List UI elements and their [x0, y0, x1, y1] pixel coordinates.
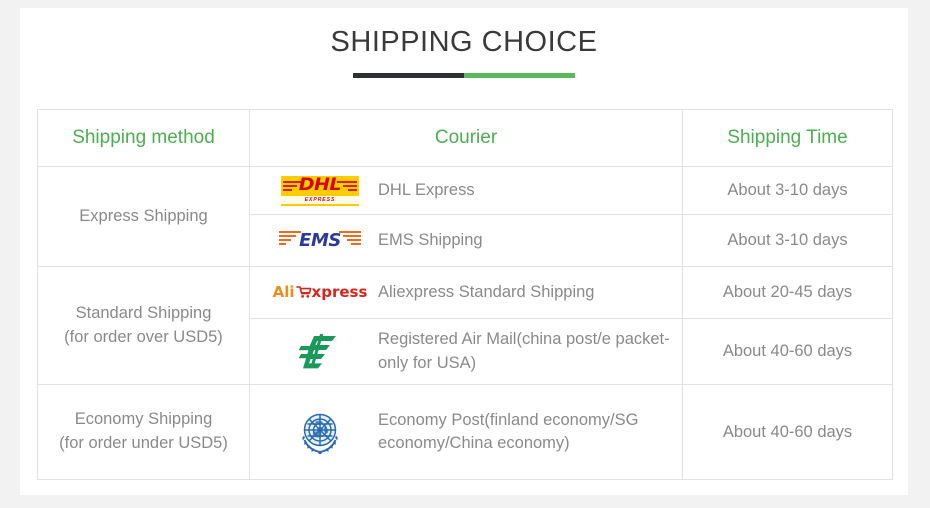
logo-slot: DHL EXPRESS — [270, 176, 370, 206]
method-label: Economy Shipping — [75, 410, 213, 428]
ems-wordmark: EMS — [299, 232, 341, 250]
table-header-row: Shipping method Courier Shipping Time — [38, 110, 893, 167]
table-row: Express Shipping DHL EXPRESS DHL Expr — [38, 167, 893, 215]
ems-speed-lines-right — [339, 231, 361, 245]
logo-slot: EMS — [270, 227, 370, 255]
ems-speed-lines-left — [279, 231, 301, 245]
courier-cell-ems: EMS EMS Shipping — [250, 215, 683, 267]
courier-cell-economy-post: Economy Post(finland economy/SG economy/… — [250, 385, 683, 480]
title-underline — [353, 73, 575, 78]
method-sublabel: (for order over USD5) — [64, 328, 223, 346]
aliexpress-prefix: Ali — [273, 285, 295, 300]
logo-slot — [270, 331, 370, 373]
title-underline-green — [464, 73, 575, 78]
courier-cell-china-post: Registered Air Mail(china post/e packet-… — [250, 319, 683, 385]
courier-label: EMS Shipping — [370, 229, 483, 252]
courier-label: Registered Air Mail(china post/e packet-… — [370, 328, 682, 375]
dhl-wordmark: DHL — [299, 177, 341, 194]
method-cell-express: Express Shipping — [38, 167, 250, 267]
page-title: SHIPPING CHOICE — [20, 28, 908, 57]
time-cell: About 40-60 days — [683, 319, 893, 385]
courier-cell-dhl: DHL EXPRESS DHL Express — [250, 167, 683, 215]
aliexpress-suffix: xpress — [312, 285, 368, 300]
time-cell: About 40-60 days — [683, 385, 893, 480]
method-cell-standard: Standard Shipping (for order over USD5) — [38, 267, 250, 385]
courier-label: DHL Express — [370, 179, 475, 202]
header-courier: Courier — [250, 110, 683, 167]
courier-label: Economy Post(finland economy/SG economy/… — [370, 409, 682, 456]
aliexpress-logo: Ali xpress — [273, 285, 368, 300]
method-label: Express Shipping — [79, 207, 207, 225]
china-post-logo — [297, 331, 343, 373]
method-cell-economy: Economy Shipping (for order under USD5) — [38, 385, 250, 480]
united-nations-logo — [291, 405, 349, 459]
logo-slot: Ali xpress — [270, 285, 370, 300]
method-sublabel: (for order under USD5) — [59, 434, 228, 452]
courier-cell-aliexpress: Ali xpress — [250, 267, 683, 319]
method-label: Standard Shipping — [76, 304, 212, 322]
time-cell: About 3-10 days — [683, 215, 893, 267]
logo-slot — [270, 405, 370, 459]
table-row: Economy Shipping (for order under USD5) — [38, 385, 893, 480]
shipping-table: Shipping method Courier Shipping Time Ex… — [37, 109, 893, 480]
shipping-card: SHIPPING CHOICE Shipping method Courier … — [20, 8, 908, 495]
header-shipping-time: Shipping Time — [683, 110, 893, 167]
time-cell: About 3-10 days — [683, 167, 893, 215]
header-shipping-method: Shipping method — [38, 110, 250, 167]
table-row: Standard Shipping (for order over USD5) … — [38, 267, 893, 319]
dhl-express-subtext: EXPRESS — [281, 196, 359, 204]
title-underline-dark — [353, 73, 464, 78]
dhl-logo: DHL EXPRESS — [281, 176, 359, 206]
title-block: SHIPPING CHOICE — [20, 28, 908, 78]
shopping-cart-icon — [296, 285, 312, 299]
time-cell: About 20-45 days — [683, 267, 893, 319]
courier-label: Aliexpress Standard Shipping — [370, 281, 594, 304]
ems-logo: EMS — [279, 227, 361, 255]
